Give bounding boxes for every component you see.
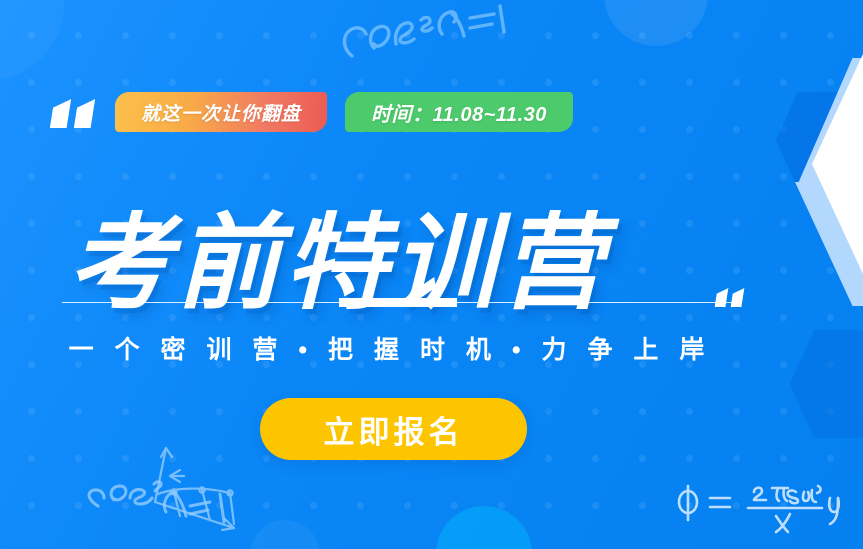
subtitle: 一 个 密 训 营 • 把 握 时 机 • 力 争 上 岸 (0, 330, 780, 366)
divider-rule-right (457, 302, 734, 304)
date-badge: 时间：11.08~11.30 (345, 92, 573, 132)
quote-mark-icon (52, 99, 93, 128)
divider-rule-left (62, 302, 339, 304)
promotional-banner: 就这一次让你翻盘 时间：11.08~11.30 考前特训营 一 个 密 训 营 … (0, 0, 863, 549)
tag-row: 就这一次让你翻盘 时间：11.08~11.30 (52, 92, 573, 132)
divider (62, 298, 734, 307)
divider-center-bar (339, 298, 457, 307)
signup-button[interactable]: 立即报名 (260, 398, 527, 460)
banner-content: 就这一次让你翻盘 时间：11.08~11.30 考前特训营 一 个 密 训 营 … (0, 0, 863, 549)
promo-badge: 就这一次让你翻盘 (115, 92, 327, 132)
divider-quote-mark-icon (716, 288, 743, 307)
